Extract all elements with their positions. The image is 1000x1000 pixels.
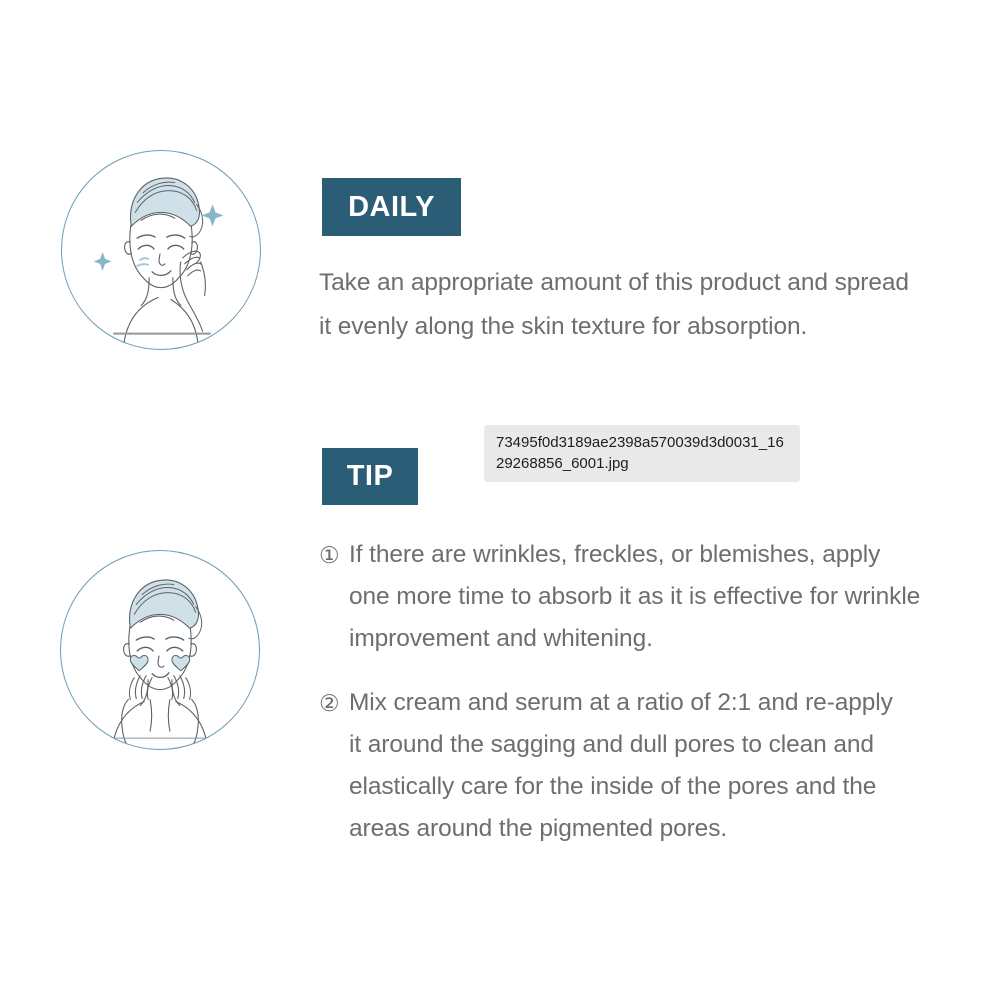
filename-tooltip: 73495f0d3189ae2398a570039d3d0031_1629268…	[484, 425, 800, 482]
woman-towel-hands-on-cheeks-illustration	[60, 550, 260, 750]
badge-daily: DAILY	[322, 178, 461, 236]
list-marker: ①	[319, 534, 349, 576]
list-item: ① If there are wrinkles, freckles, or bl…	[319, 534, 959, 660]
woman-towel-touching-cheek-illustration	[61, 150, 261, 350]
page-root: DAILY Take an appropriate amount of this…	[0, 0, 1000, 1000]
list-marker: ②	[319, 682, 349, 724]
daily-description-text: Take an appropriate amount of this produ…	[319, 261, 959, 349]
list-item-text: If there are wrinkles, freckles, or blem…	[349, 534, 959, 660]
badge-tip: TIP	[322, 448, 418, 505]
tip-list: ① If there are wrinkles, freckles, or bl…	[319, 534, 959, 872]
list-item-text: Mix cream and serum at a ratio of 2:1 an…	[349, 682, 959, 850]
list-item: ② Mix cream and serum at a ratio of 2:1 …	[319, 682, 959, 850]
